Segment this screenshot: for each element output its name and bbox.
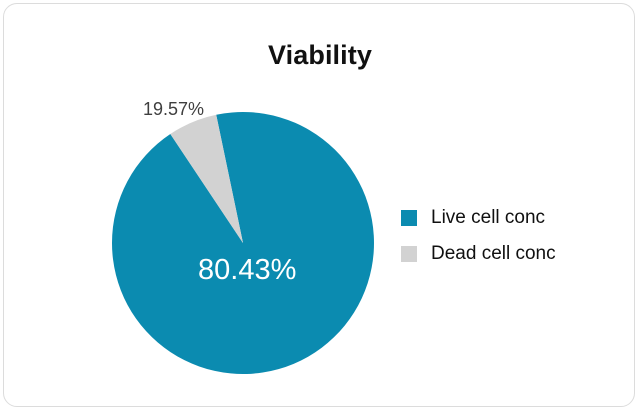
chart-card: Viability 19.57% 80.43% Live cell conc D…	[3, 3, 635, 407]
legend-item-label: Live cell conc	[431, 207, 545, 229]
pie-label-live-cell-conc: 80.43%	[198, 254, 296, 287]
legend-swatch-icon	[401, 210, 417, 226]
pie-svg	[109, 109, 377, 377]
legend-item-label: Dead cell conc	[431, 243, 556, 265]
chart-legend: Live cell conc Dead cell conc	[401, 200, 556, 272]
legend-item-dead-cell-conc[interactable]: Dead cell conc	[401, 236, 556, 272]
legend-swatch-icon	[401, 246, 417, 262]
pie-label-dead-cell-conc: 19.57%	[143, 99, 204, 120]
pie-slice-live-cell-conc[interactable]	[112, 112, 374, 374]
legend-item-live-cell-conc[interactable]: Live cell conc	[401, 200, 556, 236]
